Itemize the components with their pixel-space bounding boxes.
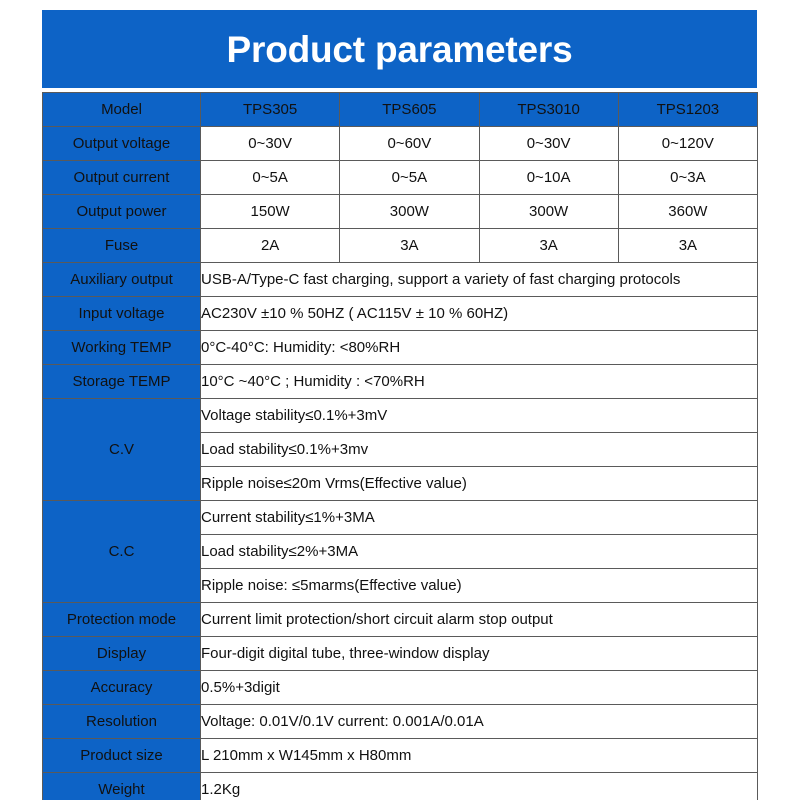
table-row: Display Four-digit digital tube, three-w… bbox=[43, 637, 758, 671]
table-row: Weight 1.2Kg bbox=[43, 773, 758, 800]
cell-value: 0.5%+3digit bbox=[201, 671, 758, 705]
group-label-cv: C.V bbox=[43, 399, 201, 501]
group-label-cc: C.C bbox=[43, 501, 201, 603]
table-body: Model TPS305 TPS605 TPS3010 TPS1203 Outp… bbox=[43, 93, 758, 800]
row-label: Output voltage bbox=[43, 127, 201, 161]
specifications-table: Model TPS305 TPS605 TPS3010 TPS1203 Outp… bbox=[42, 92, 758, 800]
cell-value: 10°C ~40°C ; Humidity : <70%RH bbox=[201, 365, 758, 399]
title-banner: Product parameters bbox=[42, 10, 757, 88]
table-row: Protection mode Current limit protection… bbox=[43, 603, 758, 637]
cell-value: 300W bbox=[340, 195, 479, 229]
cell-value: 0~5A bbox=[201, 161, 340, 195]
table-row: Working TEMP 0°C-40°C: Humidity: <80%RH bbox=[43, 331, 758, 365]
header-model-1: TPS605 bbox=[340, 93, 479, 127]
cell-value: 3A bbox=[618, 229, 757, 263]
table-row: C.C Current stability≤1%+3MA bbox=[43, 501, 758, 535]
product-parameters-page: Product parameters Model TPS305 TPS605 T… bbox=[0, 0, 800, 800]
header-model-0: TPS305 bbox=[201, 93, 340, 127]
table-row: Auxiliary output USB-A/Type-C fast charg… bbox=[43, 263, 758, 297]
row-label: Resolution bbox=[43, 705, 201, 739]
cell-value: 0~3A bbox=[618, 161, 757, 195]
row-label: Output current bbox=[43, 161, 201, 195]
cell-value: 0°C-40°C: Humidity: <80%RH bbox=[201, 331, 758, 365]
table-row: Product size L 210mm x W145mm x H80mm bbox=[43, 739, 758, 773]
row-label: Product size bbox=[43, 739, 201, 773]
table-row: Storage TEMP 10°C ~40°C ; Humidity : <70… bbox=[43, 365, 758, 399]
header-model-3: TPS1203 bbox=[618, 93, 757, 127]
row-label: Protection mode bbox=[43, 603, 201, 637]
cell-value: 360W bbox=[618, 195, 757, 229]
header-model-2: TPS3010 bbox=[479, 93, 618, 127]
row-label: Accuracy bbox=[43, 671, 201, 705]
cell-value: Load stability≤2%+3MA bbox=[201, 535, 758, 569]
cell-value: 2A bbox=[201, 229, 340, 263]
cell-value: 3A bbox=[340, 229, 479, 263]
row-label: Input voltage bbox=[43, 297, 201, 331]
row-label: Weight bbox=[43, 773, 201, 800]
table-row: C.V Voltage stability≤0.1%+3mV bbox=[43, 399, 758, 433]
cell-value: Ripple noise: ≤5marms(Effective value) bbox=[201, 569, 758, 603]
cell-value: Current limit protection/short circuit a… bbox=[201, 603, 758, 637]
cell-value: 0~5A bbox=[340, 161, 479, 195]
cell-value: AC230V ±10 % 50HZ ( AC115V ± 10 % 60HZ) bbox=[201, 297, 758, 331]
table-row: Accuracy 0.5%+3digit bbox=[43, 671, 758, 705]
row-label: Storage TEMP bbox=[43, 365, 201, 399]
cell-value: Voltage: 0.01V/0.1V current: 0.001A/0.01… bbox=[201, 705, 758, 739]
table-row: Fuse 2A 3A 3A 3A bbox=[43, 229, 758, 263]
cell-value: 0~60V bbox=[340, 127, 479, 161]
header-label-model: Model bbox=[43, 93, 201, 127]
table-row: Output voltage 0~30V 0~60V 0~30V 0~120V bbox=[43, 127, 758, 161]
cell-value: 3A bbox=[479, 229, 618, 263]
table-row: Input voltage AC230V ±10 % 50HZ ( AC115V… bbox=[43, 297, 758, 331]
cell-value: L 210mm x W145mm x H80mm bbox=[201, 739, 758, 773]
page-title: Product parameters bbox=[227, 31, 573, 68]
cell-value: Ripple noise≤20m Vrms(Effective value) bbox=[201, 467, 758, 501]
cell-value: 150W bbox=[201, 195, 340, 229]
cell-value: Four-digit digital tube, three-window di… bbox=[201, 637, 758, 671]
cell-value: 0~120V bbox=[618, 127, 757, 161]
cell-value: 1.2Kg bbox=[201, 773, 758, 800]
table-row: Output power 150W 300W 300W 360W bbox=[43, 195, 758, 229]
cell-value: Current stability≤1%+3MA bbox=[201, 501, 758, 535]
table-header-row: Model TPS305 TPS605 TPS3010 TPS1203 bbox=[43, 93, 758, 127]
row-label: Output power bbox=[43, 195, 201, 229]
row-label: Working TEMP bbox=[43, 331, 201, 365]
row-label: Fuse bbox=[43, 229, 201, 263]
cell-value: Voltage stability≤0.1%+3mV bbox=[201, 399, 758, 433]
table-row: Output current 0~5A 0~5A 0~10A 0~3A bbox=[43, 161, 758, 195]
row-label: Auxiliary output bbox=[43, 263, 201, 297]
cell-value: 0~10A bbox=[479, 161, 618, 195]
table-row: Resolution Voltage: 0.01V/0.1V current: … bbox=[43, 705, 758, 739]
cell-value: 300W bbox=[479, 195, 618, 229]
cell-value: USB-A/Type-C fast charging, support a va… bbox=[201, 263, 758, 297]
cell-value: 0~30V bbox=[201, 127, 340, 161]
row-label: Display bbox=[43, 637, 201, 671]
cell-value: Load stability≤0.1%+3mv bbox=[201, 433, 758, 467]
cell-value: 0~30V bbox=[479, 127, 618, 161]
